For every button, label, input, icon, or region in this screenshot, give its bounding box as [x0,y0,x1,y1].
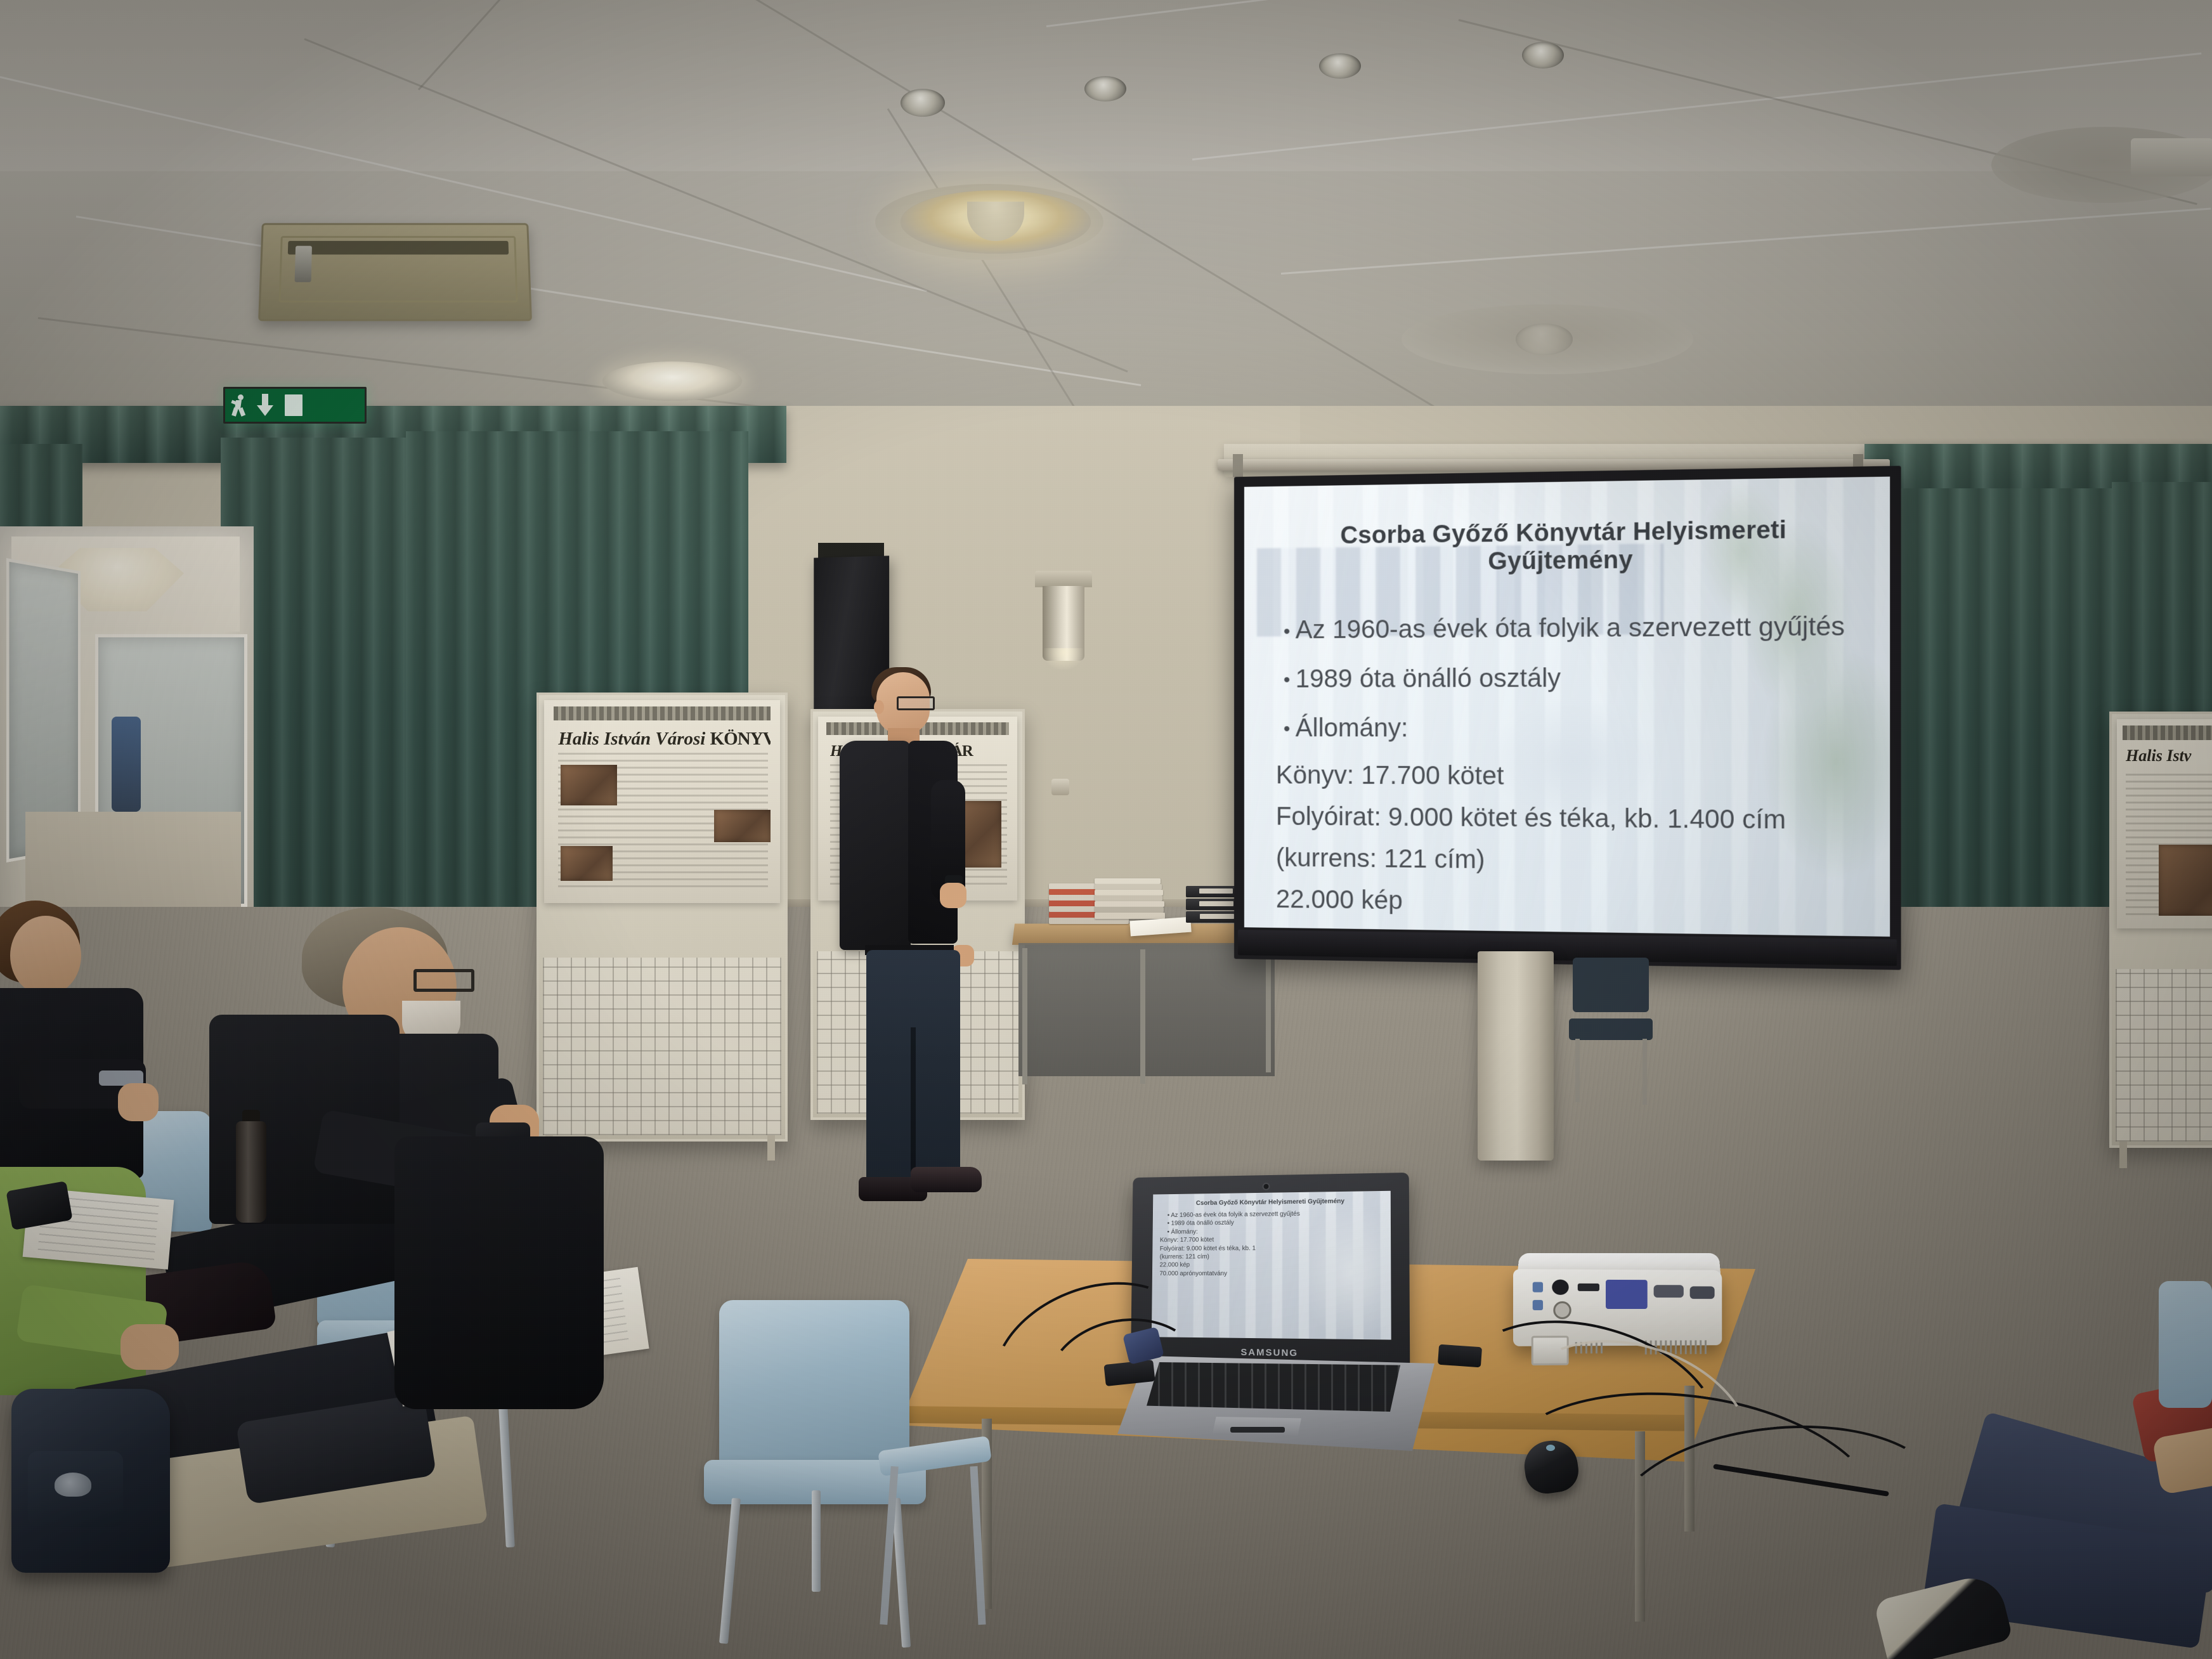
audience-person-6 [2080,1382,2212,1573]
slide-line: 22.000 kép [1276,882,1860,926]
lobby-doorway [0,526,254,945]
slide-line: Folyóirat: 9.000 kötet és téka, kb. 1.40… [1276,799,1860,840]
poster-board-3: Halis Istv [2109,712,2212,1148]
draped-coat [394,1136,604,1409]
ceiling-spotlight-icon [1319,53,1361,79]
video-port [1552,1280,1568,1295]
vga-port [1606,1280,1648,1309]
vent-handle [295,246,312,282]
room-column [1478,951,1554,1161]
slide-bullet: Az 1960-as évek óta folyik a szervezett … [1284,607,1860,650]
door-glyph-icon [285,394,303,416]
presenter-ear [874,700,884,714]
port-slot [1578,1284,1599,1291]
table-leg [1022,948,1027,1084]
presenter-shoe-right [911,1167,982,1192]
book [1095,907,1164,913]
audio-port [1533,1282,1543,1292]
ceiling-fixture [2131,138,2212,176]
poster-3: Halis Istv [2117,719,2212,928]
ceiling-downlight-icon [602,361,742,401]
conference-room-photo: Halis István Városi KÖNYVTÁR Halis Istv … [0,0,2212,1659]
svideo-port [1553,1301,1571,1319]
slide-bullet: Állomány: [1284,708,1860,748]
book [1095,884,1162,890]
book [1095,895,1162,901]
presenter-jacket [840,741,911,950]
poster-title-text: Halis Istv [2126,746,2191,765]
poster-photo [2159,845,2212,916]
hand [120,1324,179,1370]
trouser-split [911,1027,916,1186]
running-man-icon [231,394,248,416]
table-leg [1266,946,1271,1072]
book [1095,901,1164,907]
laptop-slide-line: (kurrens: 121 cím) [1160,1252,1383,1261]
poster-photo [561,765,617,805]
poster-photo [561,846,613,880]
book [1095,878,1161,884]
poster-header-strip [2123,725,2212,740]
presenter-person [836,672,975,1218]
wall-sconce-light [1035,571,1092,672]
presenter-hand [940,883,966,908]
chair-under-table[interactable] [879,1443,1006,1659]
ceiling-spotlight-icon [1522,42,1564,68]
ceiling-spotlight-icon [1084,76,1126,101]
slide-title: Csorba Győző Könyvtár Helyismereti Gyűjt… [1272,516,1860,578]
chair-behind-screen [1566,958,1655,1103]
slide-content: Csorba Győző Könyvtár Helyismereti Gyűjt… [1244,477,1890,937]
screen-bracket [1233,454,1243,477]
slide-bullet: 1989 óta önálló osztály [1284,658,1860,699]
laptop-slide-line: 70.000 aprónyomtatvány [1159,1270,1382,1278]
laptop-touchpad[interactable] [1213,1417,1301,1436]
wall-socket [1051,779,1069,795]
webcam-icon [1263,1183,1270,1190]
screen-surface: Csorba Győző Könyvtár Helyismereti Gyűjt… [1244,477,1890,937]
hand [118,1083,159,1121]
slide-line: Könyv: 17.700 kötet [1276,758,1860,797]
laptop-slide-line: 22.000 kép [1159,1261,1382,1270]
arrow-down-icon [256,394,275,417]
water-bottle [236,1121,266,1223]
emergency-exit-sign [223,387,367,424]
book [1095,890,1163,895]
poster-photo [714,810,771,842]
touchpad-buttons[interactable] [1230,1427,1285,1433]
poster-header-strip [554,706,771,720]
table-leg [1140,949,1145,1084]
glasses-icon [897,696,935,710]
glasses-icon [413,969,474,992]
board-mesh [2116,969,2212,1142]
side-table-panel [1018,943,1275,1076]
laptop-slide-title: Csorba Győző Könyvtár Helyismereti Gyűjt… [1160,1197,1382,1207]
person-in-lobby [112,717,141,812]
poster-title-sub: KÖNYVTÁR [710,729,771,749]
projection-screen: Csorba Győző Könyvtár Helyismereti Gyűjt… [1234,466,1901,970]
dsub-port [1654,1285,1684,1298]
dsub-port [1690,1286,1715,1299]
ceiling-spotlight-icon [901,89,945,117]
ceiling-air-vent [258,223,532,322]
mouse-indicator-light [1546,1445,1555,1451]
audio-port [1533,1300,1543,1310]
book [1095,913,1165,919]
ceiling-recess-ring [1402,304,1693,374]
board-foot [2119,1142,2127,1168]
poster-title-1: Halis István Városi KÖNYVTÁR [558,729,771,750]
poster-title-3: Halis Istv [2126,746,2212,765]
poster-title-text: Halis István Városi [558,729,705,749]
backpack-logo [55,1473,91,1497]
board-foot [767,1135,775,1161]
slide-line: (kurrens: 121 cím) [1276,840,1860,883]
chair-right-edge[interactable] [2159,1281,2212,1408]
poster-1: Halis István Városi KÖNYVTÁR [544,700,780,903]
